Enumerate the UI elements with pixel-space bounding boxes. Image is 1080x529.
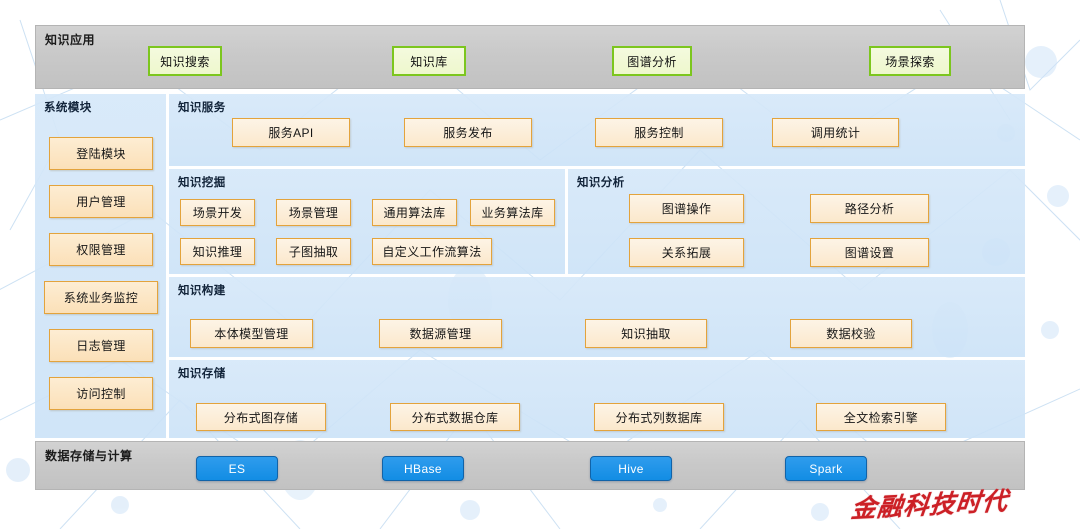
system-module-node-2[interactable]: 用户管理 xyxy=(49,185,153,218)
construction-node-1[interactable]: 本体模型管理 xyxy=(190,319,313,348)
mining-node-2[interactable]: 场景管理 xyxy=(276,199,351,226)
app-node-4[interactable]: 场景探索 xyxy=(869,46,951,76)
mining-node-5[interactable]: 知识推理 xyxy=(180,238,255,265)
construction-node-3[interactable]: 知识抽取 xyxy=(585,319,707,348)
mining-node-3[interactable]: 通用算法库 xyxy=(372,199,457,226)
watermark: 金融科技时代 xyxy=(852,484,1062,526)
service-node-4[interactable]: 调用统计 xyxy=(772,118,899,147)
analysis-node-2[interactable]: 路径分析 xyxy=(810,194,929,223)
storage-node-1[interactable]: 分布式图存储 xyxy=(196,403,326,431)
app-node-1[interactable]: 知识搜索 xyxy=(148,46,222,76)
compute-node-1[interactable]: ES xyxy=(196,456,278,481)
analysis-node-1[interactable]: 图谱操作 xyxy=(629,194,744,223)
storage-node-4[interactable]: 全文检索引擎 xyxy=(816,403,946,431)
system-module-node-1[interactable]: 登陆模块 xyxy=(49,137,153,170)
system-module-node-6[interactable]: 访问控制 xyxy=(49,377,153,410)
mining-node-7[interactable]: 自定义工作流算法 xyxy=(372,238,492,265)
mining-node-6[interactable]: 子图抽取 xyxy=(276,238,351,265)
system-module-node-3[interactable]: 权限管理 xyxy=(49,233,153,266)
system-module-node-4[interactable]: 系统业务监控 xyxy=(44,281,158,314)
compute-layer-title: 数据存储与计算 xyxy=(45,447,133,464)
construction-node-4[interactable]: 数据校验 xyxy=(790,319,912,348)
compute-node-4[interactable]: Spark xyxy=(785,456,867,481)
knowledge-construction-title: 知识构建 xyxy=(178,282,226,298)
service-node-1[interactable]: 服务API xyxy=(232,118,350,147)
construction-node-2[interactable]: 数据源管理 xyxy=(379,319,502,348)
compute-layer-bar: 数据存储与计算 xyxy=(35,441,1025,490)
system-module-node-5[interactable]: 日志管理 xyxy=(49,329,153,362)
knowledge-mining-title: 知识挖掘 xyxy=(178,174,226,190)
architecture-diagram: 知识应用 系统模块 知识服务 知识挖掘 知识分析 知识构建 知识存储 数据存储与… xyxy=(0,0,1080,529)
knowledge-storage-title: 知识存储 xyxy=(178,365,226,381)
mining-node-4[interactable]: 业务算法库 xyxy=(470,199,555,226)
knowledge-analysis-title: 知识分析 xyxy=(577,174,625,190)
service-node-3[interactable]: 服务控制 xyxy=(595,118,723,147)
app-node-2[interactable]: 知识库 xyxy=(392,46,466,76)
mining-node-1[interactable]: 场景开发 xyxy=(180,199,255,226)
app-node-3[interactable]: 图谱分析 xyxy=(612,46,692,76)
analysis-node-3[interactable]: 关系拓展 xyxy=(629,238,744,267)
storage-node-3[interactable]: 分布式列数据库 xyxy=(594,403,724,431)
application-layer-title: 知识应用 xyxy=(45,31,95,48)
compute-node-3[interactable]: Hive xyxy=(590,456,672,481)
analysis-node-4[interactable]: 图谱设置 xyxy=(810,238,929,267)
compute-node-2[interactable]: HBase xyxy=(382,456,464,481)
knowledge-service-title: 知识服务 xyxy=(178,99,226,115)
service-node-2[interactable]: 服务发布 xyxy=(404,118,532,147)
storage-node-2[interactable]: 分布式数据仓库 xyxy=(390,403,520,431)
system-module-title: 系统模块 xyxy=(44,99,92,115)
